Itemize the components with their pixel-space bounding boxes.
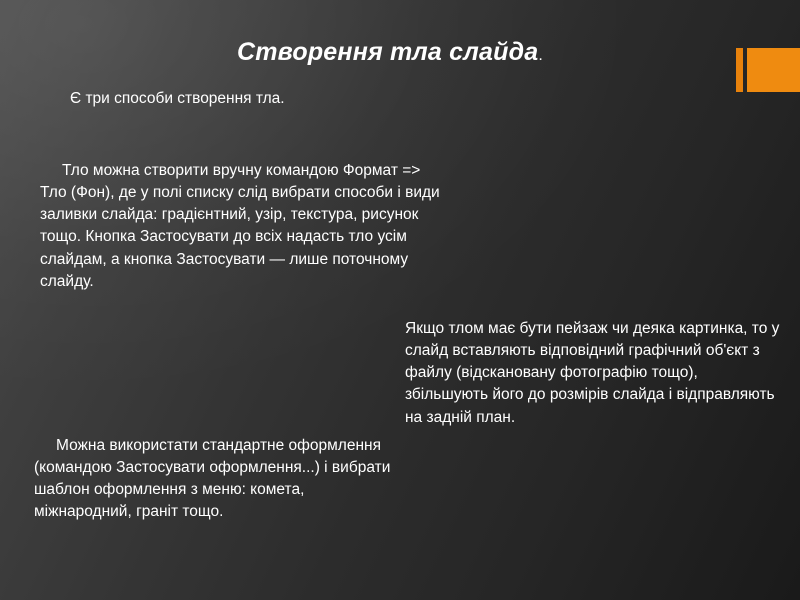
- paragraph-template-method-text: Можна використати стандартне оформлення …: [34, 437, 390, 520]
- paragraph-manual-method-text: Тло можна створити вручну командою Форма…: [40, 162, 440, 290]
- accent-block: [747, 48, 800, 92]
- slide-title-text: Створення тла слайда: [237, 38, 538, 66]
- slide-title-period: .: [538, 47, 543, 64]
- paragraph-picture-method-text: Якщо тлом має бути пейзаж чи деяка карти…: [405, 320, 779, 426]
- paragraph-picture-method: Якщо тлом має бути пейзаж чи деяка карти…: [405, 318, 780, 429]
- paragraph-manual-method: Тло можна створити вручну командою Форма…: [40, 160, 440, 293]
- paragraph-intro-text: Є три способи створення тла.: [70, 90, 285, 107]
- slide-title: Створення тла слайда.: [60, 38, 720, 67]
- paragraph-intro: Є три способи створення тла.: [48, 88, 348, 110]
- corner-decoration: [736, 48, 800, 92]
- accent-bar-thin: [736, 48, 743, 92]
- paragraph-template-method: Можна використати стандартне оформлення …: [34, 435, 394, 524]
- presentation-slide: Створення тла слайда. Є три способи ство…: [0, 0, 800, 600]
